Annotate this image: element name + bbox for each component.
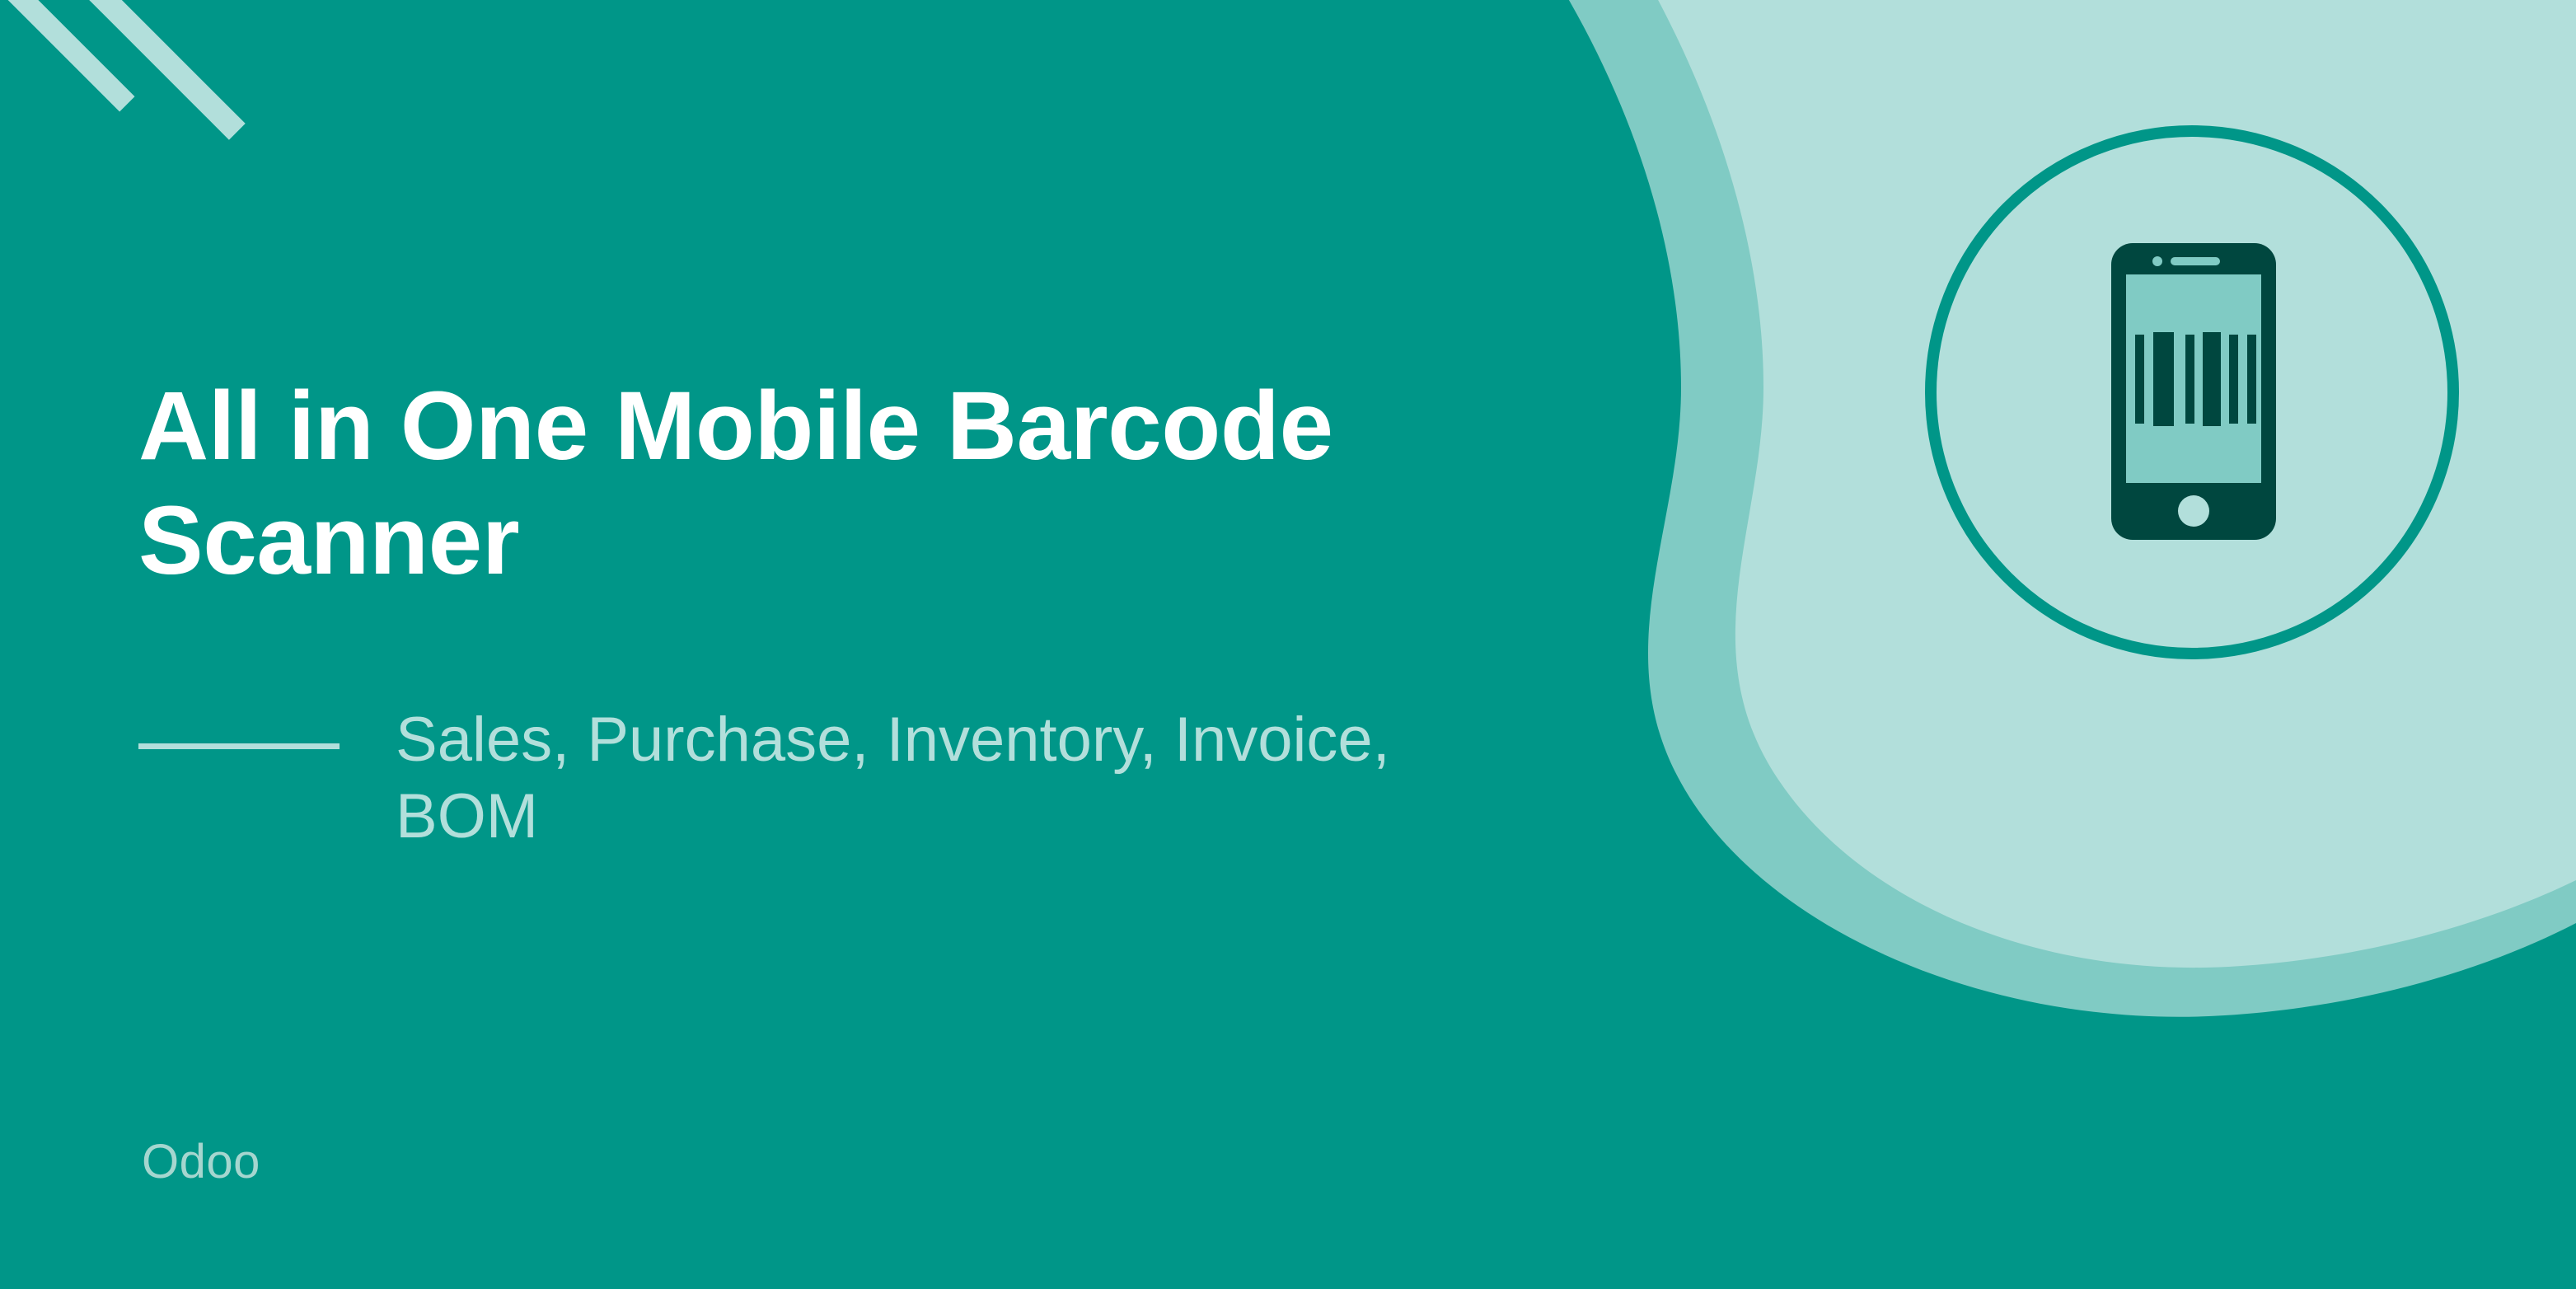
slide-content: All in One Mobile Barcode Scanner Sales,… — [0, 0, 2576, 1289]
subtitle-block: Sales, Purchase, Inventory, Invoice, BOM — [138, 702, 1729, 855]
title-block: All in One Mobile Barcode Scanner — [138, 369, 1729, 598]
presentation-slide: All in One Mobile Barcode Scanner Sales,… — [0, 0, 2576, 1289]
page-subtitle: Sales, Purchase, Inventory, Invoice, BOM — [396, 702, 1390, 855]
brand-label: Odoo — [142, 1134, 260, 1189]
page-title: All in One Mobile Barcode Scanner — [138, 369, 1729, 598]
subtitle-divider-rule — [138, 743, 340, 749]
